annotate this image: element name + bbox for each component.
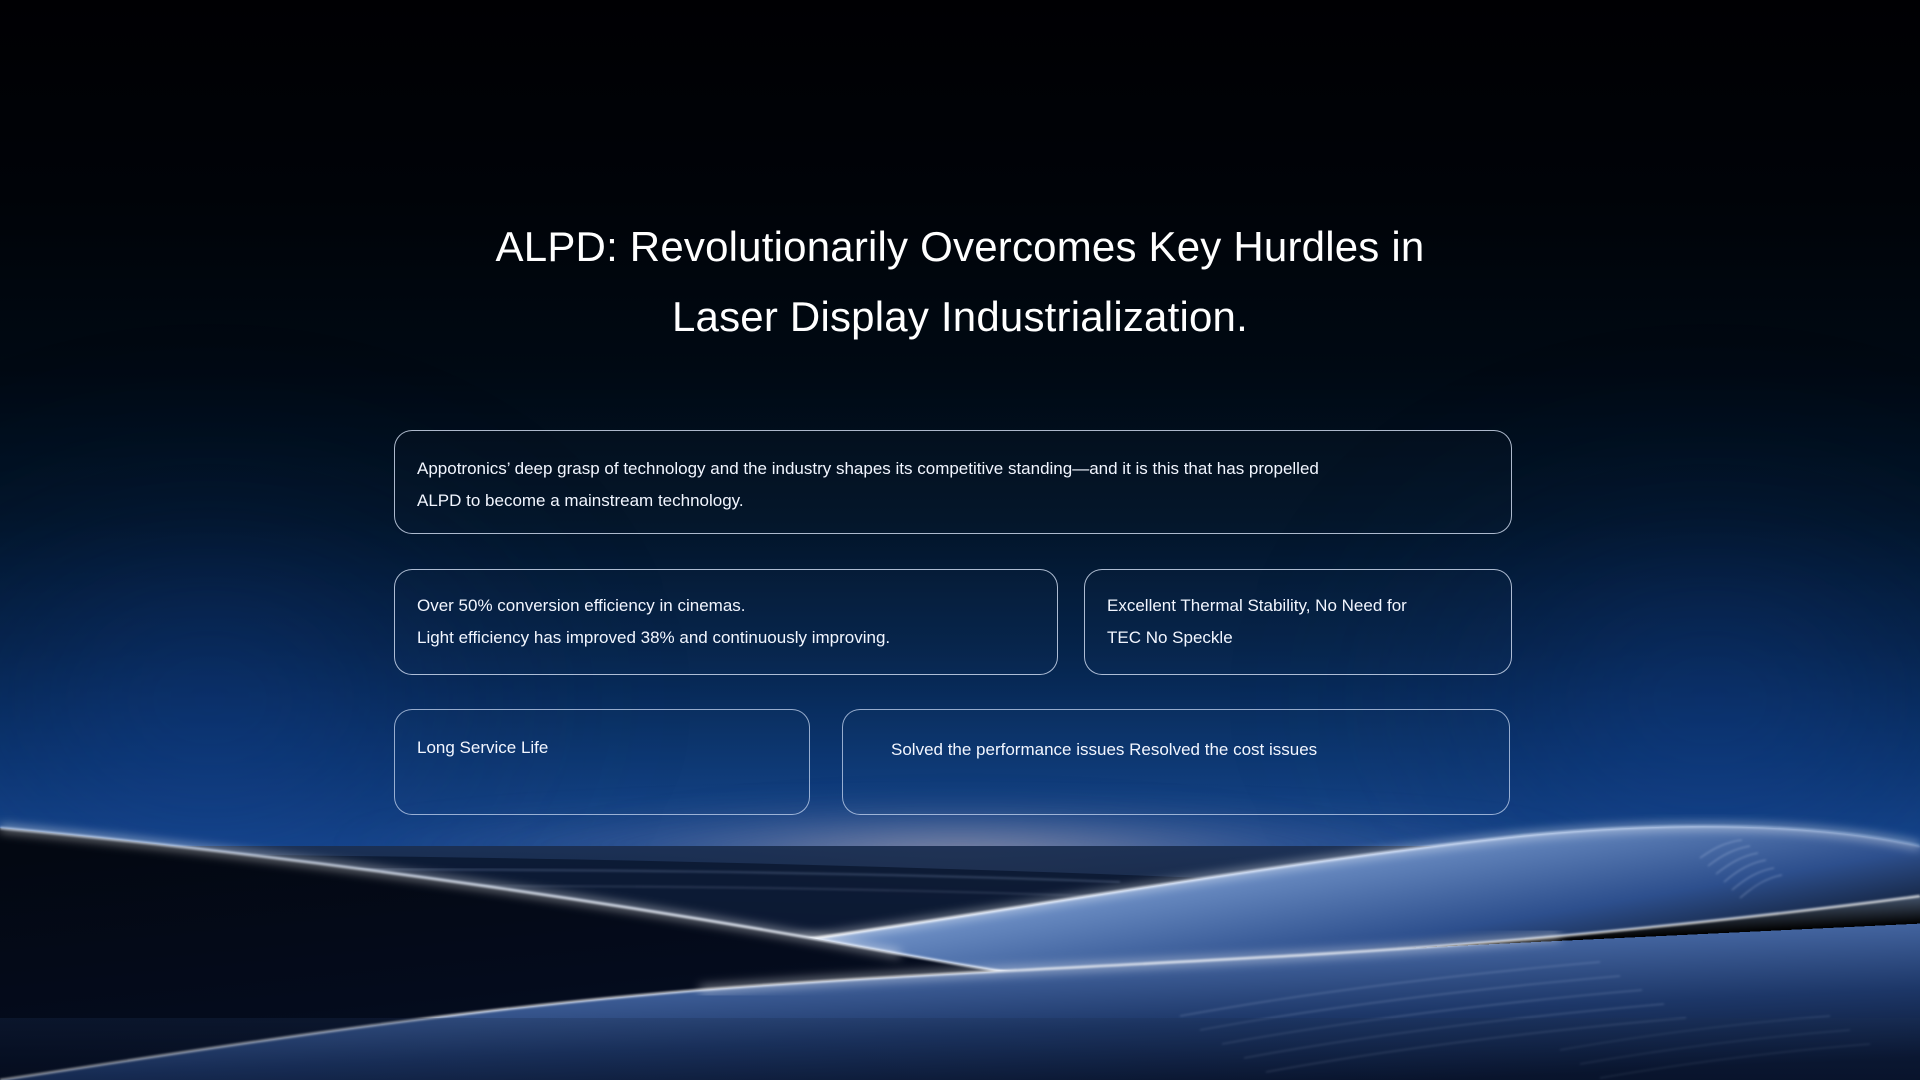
card-intro-line-2: ALPD to become a mainstream technology. <box>417 485 1489 517</box>
card-row-2: Over 50% conversion efficiency in cinema… <box>394 569 1526 675</box>
card-efficiency-line-2: Light efficiency has improved 38% and co… <box>417 622 1035 654</box>
card-efficiency[interactable]: Over 50% conversion efficiency in cinema… <box>394 569 1058 675</box>
card-efficiency-line-1: Over 50% conversion efficiency in cinema… <box>417 590 1035 622</box>
card-row-1: Appotronics’ deep grasp of technology an… <box>394 430 1526 534</box>
slide-content: ALPD: Revolutionarily Overcomes Key Hurd… <box>0 0 1920 1080</box>
card-lifetime[interactable]: Long Service Life <box>394 709 810 815</box>
card-intro[interactable]: Appotronics’ deep grasp of technology an… <box>394 430 1512 534</box>
title-line-1: ALPD: Revolutionarily Overcomes Key Hurd… <box>0 212 1920 282</box>
card-intro-line-1: Appotronics’ deep grasp of technology an… <box>417 453 1489 485</box>
card-thermal-line-1: Excellent Thermal Stability, No Need for <box>1107 590 1489 622</box>
card-solved-line-1: Solved the performance issues Resolved t… <box>891 734 1487 766</box>
card-solved[interactable]: Solved the performance issues Resolved t… <box>842 709 1510 815</box>
page-title: ALPD: Revolutionarily Overcomes Key Hurd… <box>0 212 1920 352</box>
slide-root: ALPD: Revolutionarily Overcomes Key Hurd… <box>0 0 1920 1080</box>
card-stack: Appotronics’ deep grasp of technology an… <box>394 430 1526 815</box>
card-row-3: Long Service Life Solved the performance… <box>394 709 1526 815</box>
card-thermal-line-2: TEC No Speckle <box>1107 622 1489 654</box>
card-lifetime-line-1: Long Service Life <box>417 732 787 764</box>
card-thermal[interactable]: Excellent Thermal Stability, No Need for… <box>1084 569 1512 675</box>
title-line-2: Laser Display Industrialization. <box>0 282 1920 352</box>
